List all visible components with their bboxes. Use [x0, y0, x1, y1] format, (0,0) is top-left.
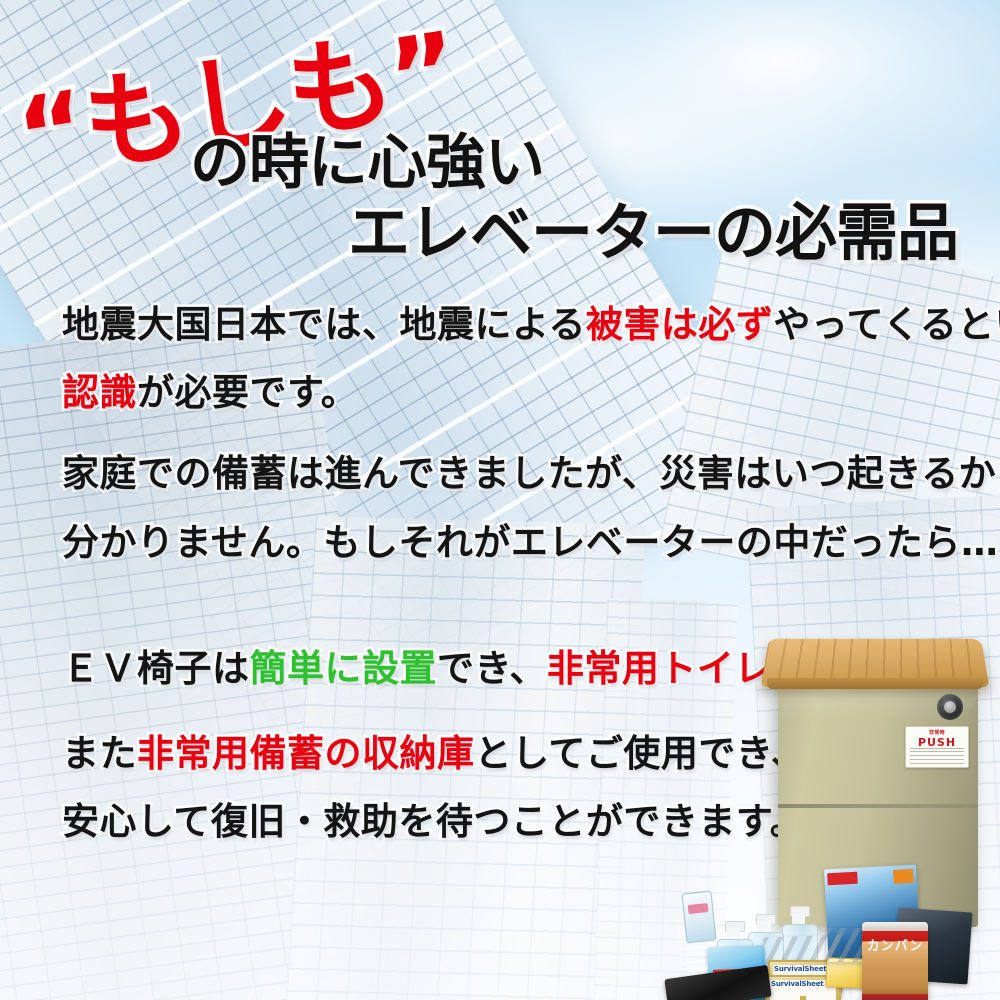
body-text-run-red: 非常用備蓄の収納庫	[137, 732, 475, 775]
latch-knob-icon	[937, 694, 963, 720]
body-text-run-red: 認識	[62, 371, 137, 414]
first-aid-cross-icon	[795, 996, 811, 1000]
body-text-run-black: 地震大国日本では、地震による	[62, 303, 586, 346]
survival-sheet-label: SurvivalSheet	[771, 980, 823, 988]
can-foot-band	[862, 994, 928, 1000]
body-text-run-green: 簡単に設置	[250, 647, 438, 690]
push-instruction-label: 非常時 PUSH	[905, 726, 969, 768]
survival-sheet-label: SurvivalSheet	[774, 965, 826, 973]
body-text-run-black: 分かりません。もしそれがエレベーターの中だったら…	[62, 521, 998, 564]
body-line: 家庭での備蓄は進んできましたが、災害はいつ起きるか	[62, 455, 996, 492]
can-label-text: カンパン	[862, 935, 928, 954]
body-line: 認識が必要です。	[62, 374, 358, 411]
push-label-top-text: 非常時	[906, 729, 968, 736]
body-text-run-black: が必要です。	[137, 371, 358, 414]
supply-hardtack-can: カンパン	[862, 922, 928, 1000]
flyer-red-tag	[827, 872, 858, 886]
can-rim	[862, 922, 928, 931]
toilet-box-seam	[778, 804, 978, 808]
push-label-fineprint	[910, 751, 964, 764]
wooden-lid-edge	[767, 678, 983, 689]
body-text-run-black: 家庭での備蓄は進んできましたが、災害はいつ起きるか	[62, 452, 996, 495]
body-line: 地震大国日本では、地震による被害は必ずやってくるという	[62, 306, 1000, 343]
body-line: 分かりません。もしそれがエレベーターの中だったら…	[62, 524, 998, 561]
body-text-run-black: でき、	[437, 647, 547, 690]
push-label-divider	[910, 748, 964, 749]
body-text-run-black: ＥＶ椅子は	[62, 647, 250, 690]
product-photo-ev-chair-emergency-toilet: 非常時 PUSH	[660, 628, 1000, 1000]
body-text-run-red: 被害は必ず	[586, 303, 774, 346]
supply-toothbrush-pack	[681, 891, 716, 944]
body-text-run-black: また	[62, 732, 137, 775]
flyer-orange-tag	[893, 869, 914, 884]
poster-canvas: “もしも” の時に心強い エレベーターの必需品 地震大国日本では、地震による被害…	[0, 0, 1000, 1000]
body-text-run-black: やってくるという	[773, 303, 1000, 346]
